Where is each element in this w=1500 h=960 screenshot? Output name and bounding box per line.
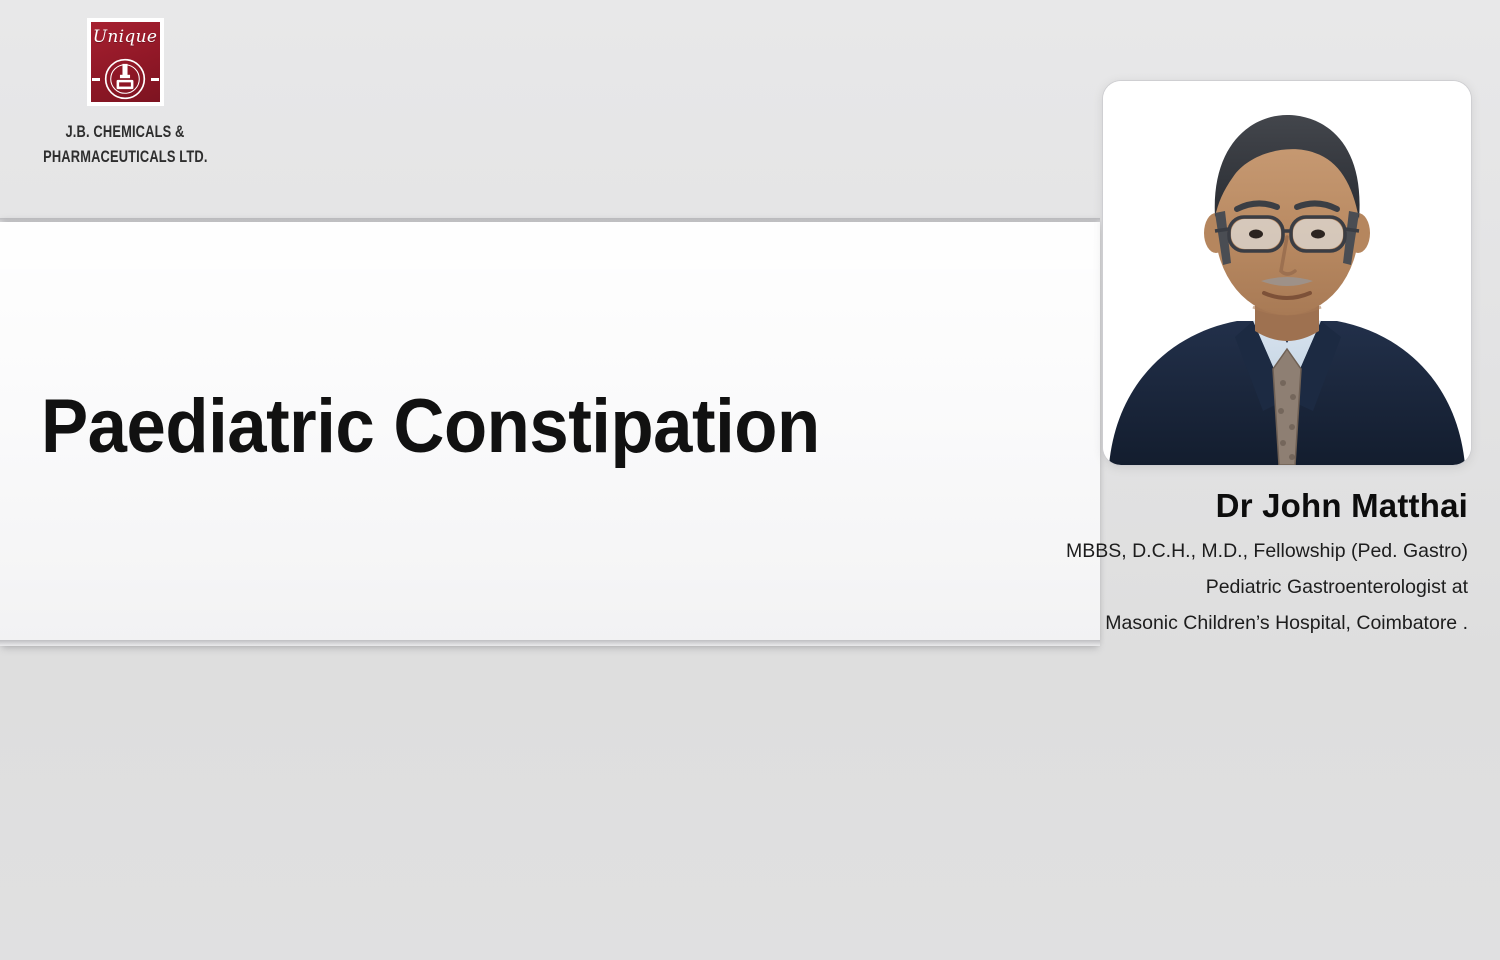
unique-logo-mark: Unique <box>87 18 164 106</box>
quality-seal-icon <box>104 58 146 100</box>
speaker-credential-qualifications: MBBS, D.C.H., M.D., Fellowship (Ped. Gas… <box>998 533 1468 569</box>
band-bottom-shadow <box>0 640 1100 647</box>
company-name-line-2: PHARMACEUTICALS LTD. <box>43 145 207 170</box>
speaker-portrait-illustration <box>1103 81 1471 465</box>
speaker-credential-institution: Masonic Children’s Hospital, Coimbatore … <box>998 605 1468 641</box>
speaker-photo <box>1103 81 1471 465</box>
logo-bar-left <box>92 78 100 81</box>
company-logo: Unique J.B. CHEMICALS & PHARMACEUTICALS … <box>20 18 230 170</box>
logo-bar-right <box>151 78 159 81</box>
company-name-line-1: J.B. CHEMICALS & <box>43 120 207 145</box>
logo-red-panel: Unique <box>91 22 160 102</box>
slide-title: Paediatric Constipation <box>41 385 820 469</box>
logo-script-text: Unique <box>93 27 157 47</box>
presentation-title-slide: Unique J.B. CHEMICALS & PHARMACEUTICALS … <box>0 0 1500 960</box>
speaker-credential-role: Pediatric Gastroenterologist at <box>998 569 1468 605</box>
speaker-details: Dr John Matthai MBBS, D.C.H., M.D., Fell… <box>998 487 1468 641</box>
speaker-name: Dr John Matthai <box>998 487 1468 525</box>
